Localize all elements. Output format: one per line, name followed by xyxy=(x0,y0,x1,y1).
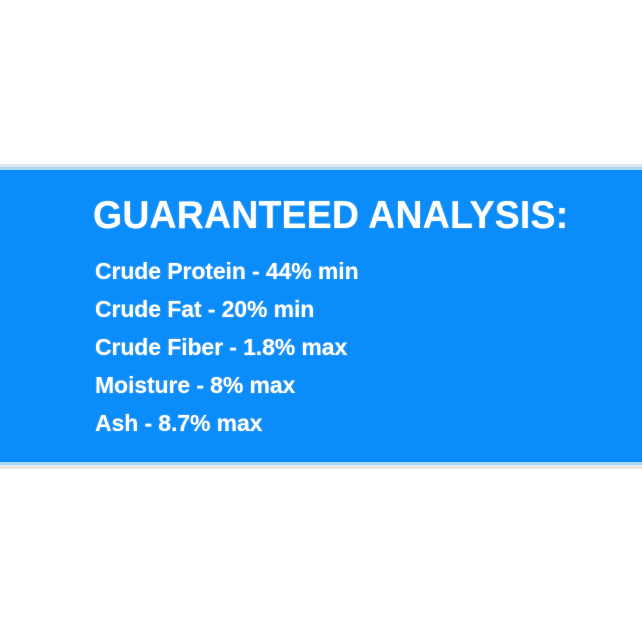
top-whitespace xyxy=(0,0,642,164)
list-item: Ash - 8.7% max xyxy=(95,404,642,442)
page-title: GUARANTEED ANALYSIS: xyxy=(93,196,620,236)
guaranteed-analysis-page: GUARANTEED ANALYSIS: Crude Protein - 44%… xyxy=(0,0,642,642)
list-item: Moisture - 8% max xyxy=(95,366,642,404)
list-item: Crude Protein - 44% min xyxy=(95,252,642,290)
bottom-whitespace xyxy=(0,469,642,642)
list-item: Crude Fiber - 1.8% max xyxy=(95,328,642,366)
guaranteed-analysis-banner: GUARANTEED ANALYSIS: Crude Protein - 44%… xyxy=(0,170,642,462)
analysis-list: Crude Protein - 44% min Crude Fat - 20% … xyxy=(93,252,642,442)
list-item: Crude Fat - 20% min xyxy=(95,290,642,328)
